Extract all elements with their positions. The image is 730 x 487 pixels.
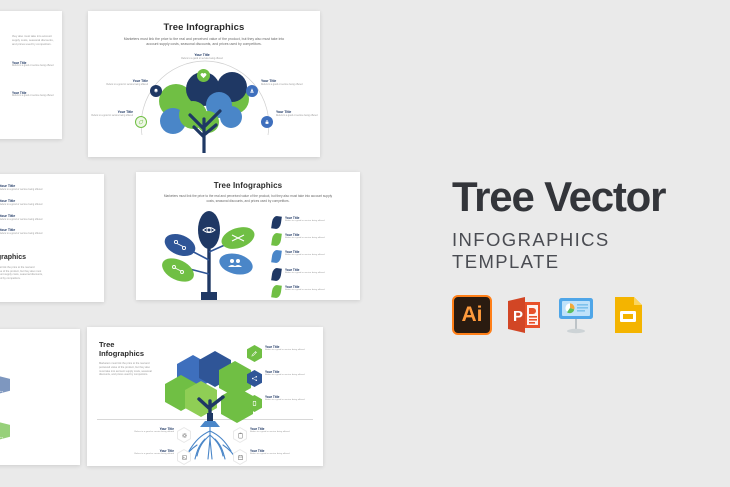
hex-item-share[interactable]: Your Title Refers to a good or service b… xyxy=(247,370,319,387)
slide-leaf-plant[interactable]: Tree Infographics Marketers must link th… xyxy=(136,172,360,300)
hexagon-outline xyxy=(177,427,191,443)
node-desc: Refers to a good or service being offere… xyxy=(261,84,305,87)
root-item-calendar[interactable]: Your Title Refers to a good or service b… xyxy=(233,449,317,465)
slide-circle-tree[interactable]: Tree Infographics Marketers must link th… xyxy=(88,11,320,157)
legend-list: Your Title Refers to a good or service b… xyxy=(272,216,348,300)
slide2-paragraph: Marketers must link the price to the rea… xyxy=(162,194,334,203)
root-item-clipboard[interactable]: Your Title Refers to a good or service b… xyxy=(233,427,317,443)
edge-slide-top[interactable]: they also must take into account supply … xyxy=(0,11,62,139)
legend-desc: Refers to a good or service being offere… xyxy=(285,220,325,223)
edit-icon xyxy=(251,350,258,357)
share-nodes-icon xyxy=(251,375,258,382)
item-desc: Refers to a good or service being offere… xyxy=(134,431,174,434)
plant-graphic xyxy=(148,208,270,300)
hexagon-shape: Your Title Refers to a good or service b… xyxy=(0,419,10,443)
hexagon-outline xyxy=(177,449,191,465)
legend-desc: Refers to a good or service being offere… xyxy=(285,237,325,240)
hex-card-chat[interactable]: Your Title Refers to a good or service b… xyxy=(0,373,10,397)
image-icon xyxy=(181,454,188,461)
legend-item[interactable]: Your Title Refers to a good or service b… xyxy=(272,216,348,229)
numbered-list-item[interactable]: 1 Your Title Refers to a good or service… xyxy=(0,184,66,195)
node-label-right-upper: Your Title Refers to a good or service b… xyxy=(261,79,305,87)
edge-middle-paragraph: Marketers must link the price to the rea… xyxy=(0,266,46,280)
slide2-title: Tree Infographics xyxy=(136,181,360,190)
root-item-gear[interactable]: Your Title Refers to a good or service b… xyxy=(115,427,191,443)
node-badge-anchor[interactable] xyxy=(246,85,258,97)
slide1-title: Tree Infographics xyxy=(88,22,320,33)
root-item-image[interactable]: Your Title Refers to a good or service b… xyxy=(115,449,191,465)
keynote-glyph xyxy=(556,295,596,335)
leaf-bullet-icon xyxy=(271,284,282,298)
hexagon-shape xyxy=(247,395,262,412)
legend-desc: Refers to a good or service being offere… xyxy=(285,254,325,257)
node-desc: Refers to a good or service being offere… xyxy=(180,58,224,61)
node-title: Your Title xyxy=(261,79,305,83)
item-desc: Refers to a good or service being offere… xyxy=(265,399,305,402)
hexagon-outline xyxy=(233,449,247,465)
brand-panel: Tree Vector INFOGRAPHICS TEMPLATE Ai P xyxy=(452,176,692,335)
item-desc: Refers to a good or service being offere… xyxy=(134,453,174,456)
slide3-title-line2: Infographics xyxy=(99,350,155,359)
clipboard-icon xyxy=(237,432,244,439)
anchor-icon xyxy=(249,88,255,94)
hexagon-shape xyxy=(247,370,262,387)
node-badge-lock[interactable] xyxy=(261,116,273,128)
hex-item-edit[interactable]: Your Title Refers to a good or service b… xyxy=(247,345,319,362)
leaf-bullet-icon xyxy=(271,250,282,264)
lock-icon xyxy=(264,119,270,125)
calendar-icon xyxy=(237,454,244,461)
legend-item[interactable]: Your Title Refers to a good or service b… xyxy=(272,285,348,298)
hexagon-outline xyxy=(233,427,247,443)
item-desc: Refers to a good or service being offere… xyxy=(250,431,290,434)
node-badge-bell[interactable] xyxy=(150,85,162,97)
heart-icon xyxy=(200,72,207,79)
node-label-right-lower: Your Title Refers to a good or service b… xyxy=(276,110,318,118)
slides-glyph xyxy=(608,295,648,335)
legend-desc: Refers to a good or service being offere… xyxy=(285,272,325,275)
slide3-paragraph: Marketers must link the price to the rea… xyxy=(99,362,155,377)
item-desc: Refers to a good or service being offere… xyxy=(0,188,42,191)
item-desc: Refers to a good or service being offere… xyxy=(265,374,305,377)
edge-slide-bottom[interactable]: Your Title Refers to a good or service b… xyxy=(0,329,80,465)
hex-desc: Refers to a good or service being offere… xyxy=(0,437,10,443)
item-desc: Refers to a good or service being offere… xyxy=(0,232,42,235)
numbered-list-item[interactable]: 2 Your Title Refers to a good or service… xyxy=(0,199,66,210)
powerpoint-glyph: P xyxy=(504,295,544,335)
edge-slide-middle[interactable]: 1 Your Title Refers to a good or service… xyxy=(0,174,104,302)
node-badge-heart[interactable] xyxy=(197,69,210,82)
node-label-left-upper: Your Title Refers to a good or service b… xyxy=(104,79,148,87)
edge-top-paragraph: they also must take into account supply … xyxy=(12,35,58,46)
leaf-icon xyxy=(138,119,144,125)
app-icon-row: Ai P xyxy=(452,295,692,335)
legend-desc: Refers to a good or service being offere… xyxy=(285,289,325,292)
brand-subtitle: INFOGRAPHICS TEMPLATE xyxy=(452,229,692,273)
node-title: Your Title xyxy=(276,110,318,114)
svg-text:P: P xyxy=(513,308,523,325)
slide-hexagon-tree[interactable]: Tree Infographics Marketers must link th… xyxy=(87,327,323,466)
item-desc: Refers to a good or service being offere… xyxy=(265,349,305,352)
numbered-list-item[interactable]: 3 Your Title Refers to a good or service… xyxy=(0,214,66,225)
hexagon-shape: Your Title Refers to a good or service b… xyxy=(0,373,10,397)
node-desc: Refers to a good or service being offere… xyxy=(104,84,148,87)
item-desc: Refers to a good or service being offere… xyxy=(0,218,42,221)
book-icon xyxy=(251,400,258,407)
google-slides-icon[interactable] xyxy=(608,295,648,335)
ai-label: Ai xyxy=(462,303,483,327)
node-label-left-lower: Your Title Refers to a good or service b… xyxy=(90,110,133,118)
leaf-bullet-icon xyxy=(271,233,282,247)
gear-icon xyxy=(181,432,188,439)
edge-top-item-desc: Refers to a good or service being offere… xyxy=(12,65,58,68)
legend-item[interactable]: Your Title Refers to a good or service b… xyxy=(272,250,348,263)
hex-card-eye[interactable]: Your Title Refers to a good or service b… xyxy=(0,419,10,443)
item-desc: Refers to a good or service being offere… xyxy=(250,453,290,456)
hex-desc: Refers to a good or service being offere… xyxy=(0,391,10,397)
slide3-header: Tree Infographics Marketers must link th… xyxy=(99,341,155,377)
legend-item[interactable]: Your Title Refers to a good or service b… xyxy=(272,268,348,281)
leaf-bullet-icon xyxy=(271,215,282,229)
leaf-bullet-icon xyxy=(271,267,282,281)
legend-item[interactable]: Your Title Refers to a good or service b… xyxy=(272,233,348,246)
node-desc: Refers to a good or service being offere… xyxy=(276,115,318,118)
apple-keynote-icon[interactable] xyxy=(556,295,596,335)
hexagon-shape xyxy=(247,345,262,362)
node-title: Your Title xyxy=(180,53,224,57)
node-badge-leaf[interactable] xyxy=(135,116,147,128)
node-title: Your Title xyxy=(90,110,133,114)
node-label-top: Your Title Refers to a good or service b… xyxy=(180,53,224,61)
item-desc: Refers to a good or service being offere… xyxy=(0,203,42,206)
hex-item-book[interactable]: Your Title Refers to a good or service b… xyxy=(247,395,319,412)
numbered-list-item[interactable]: 4 Your Title Refers to a good or service… xyxy=(0,228,66,239)
slide1-paragraph: Marketers must link the price to the rea… xyxy=(118,37,290,47)
edge-top-item-desc: Refers to a good or service being offere… xyxy=(12,95,58,98)
adobe-illustrator-icon[interactable]: Ai xyxy=(452,295,492,335)
edge-middle-title-line1: Tree xyxy=(0,246,66,254)
bell-icon xyxy=(153,88,159,94)
microsoft-powerpoint-icon[interactable]: P xyxy=(504,295,544,335)
node-title: Your Title xyxy=(104,79,148,83)
edge-middle-title-line2: Infographics xyxy=(0,254,66,262)
poster-canvas: they also must take into account supply … xyxy=(0,0,730,487)
brand-title: Tree Vector xyxy=(452,176,692,218)
node-desc: Refers to a good or service being offere… xyxy=(90,115,133,118)
